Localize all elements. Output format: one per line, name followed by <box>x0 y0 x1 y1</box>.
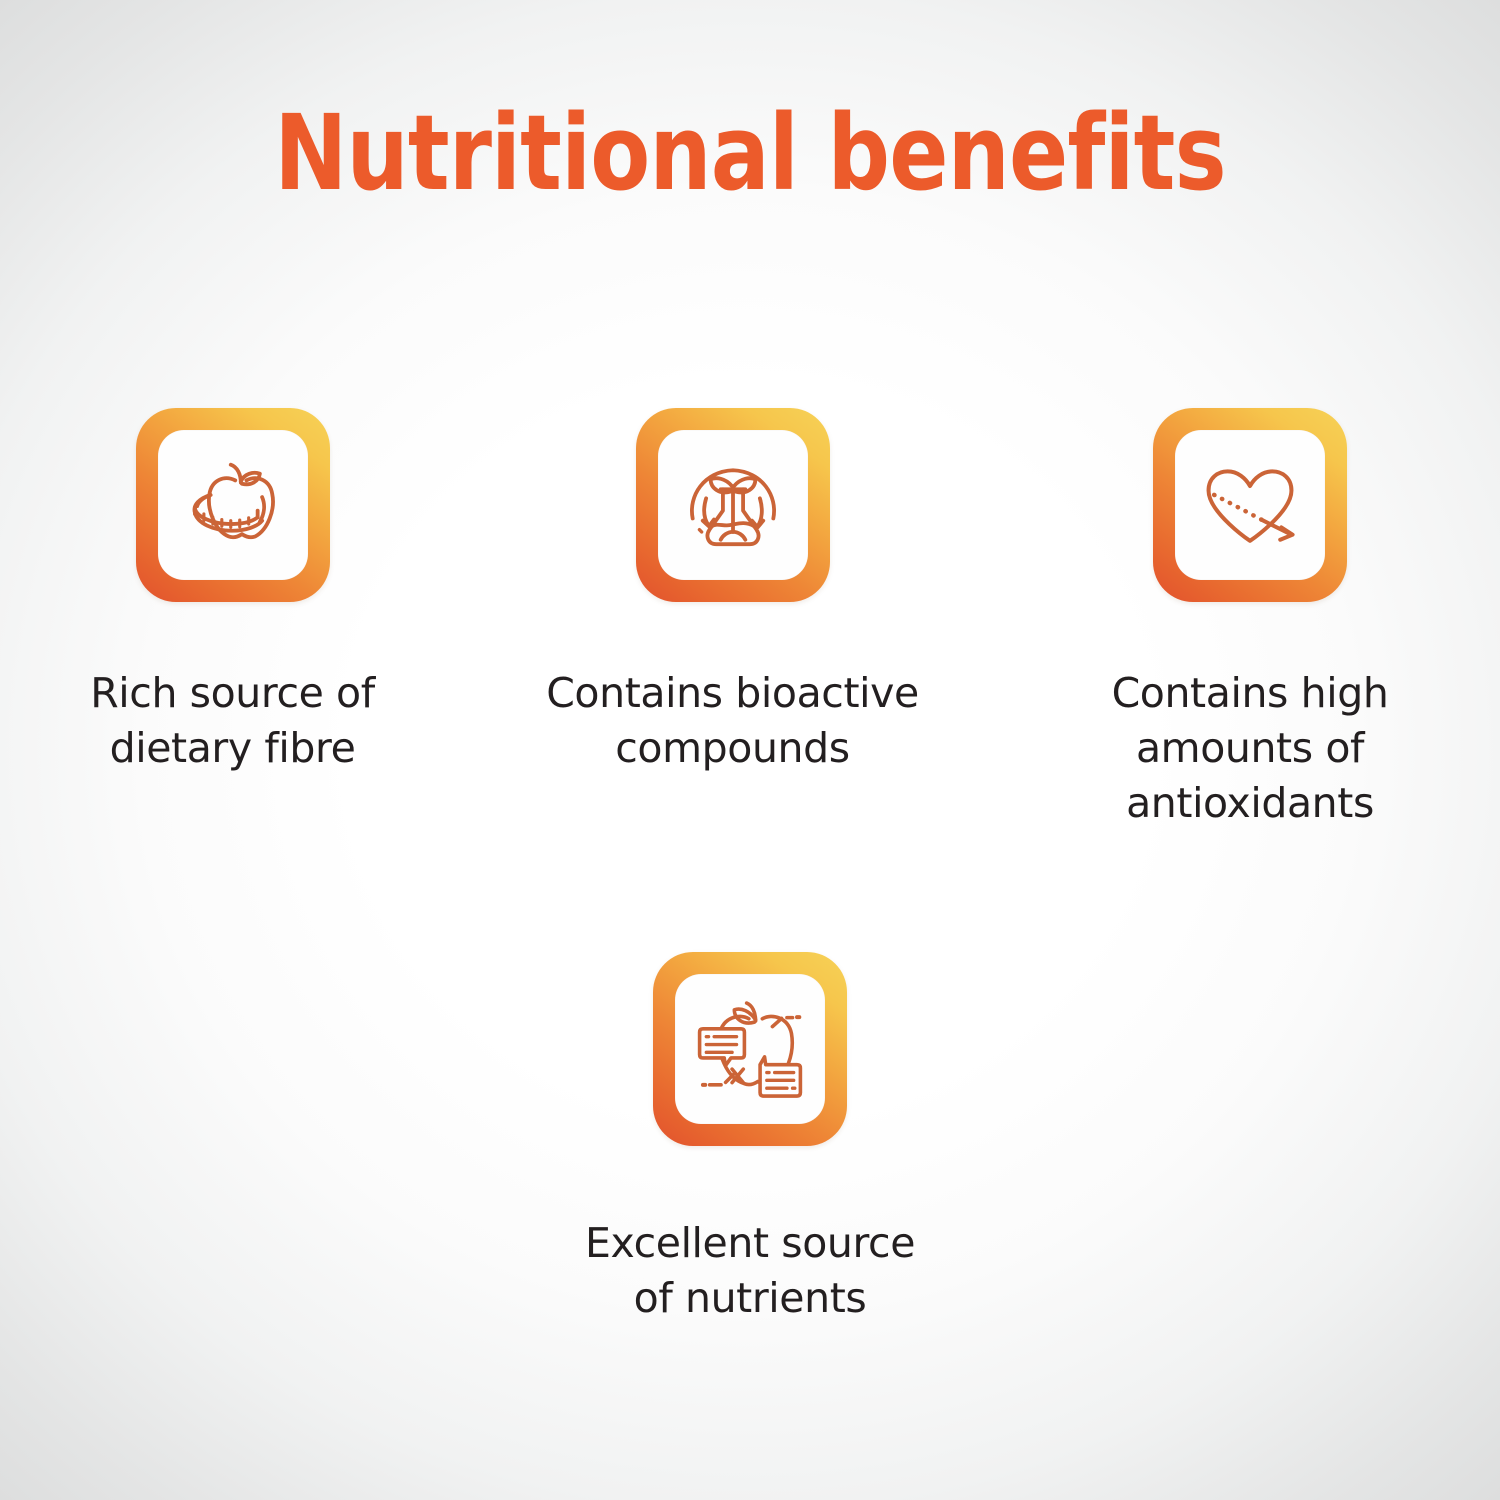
icon-frame-nutrients <box>653 952 847 1146</box>
benefit-caption-antioxidants: Contains high amounts of antioxidants <box>1112 666 1389 831</box>
icon-inner-nutrients <box>675 974 825 1124</box>
benefit-item-nutrients: Excellent source of nutrients <box>550 952 950 1326</box>
benefit-item-antioxidants: Contains high amounts of antioxidants <box>1040 408 1460 831</box>
apple-measuring-tape-icon <box>177 449 289 561</box>
icon-frame-bioactive-compounds <box>636 408 830 602</box>
icon-frame-dietary-fibre <box>136 408 330 602</box>
page-title: Nutritional benefits <box>120 96 1380 210</box>
benefit-caption-nutrients: Excellent source of nutrients <box>585 1216 915 1326</box>
benefit-caption-bioactive-compounds: Contains bioactive compounds <box>546 666 919 776</box>
apple-info-bubbles-icon <box>694 993 806 1105</box>
icon-inner-antioxidants <box>1175 430 1325 580</box>
icon-inner-dietary-fibre <box>158 430 308 580</box>
benefit-item-bioactive-compounds: Contains bioactive compounds <box>533 408 933 831</box>
nutritional-benefits-infographic: Nutritional benefits <box>0 0 1500 1500</box>
icon-inner-bioactive-compounds <box>658 430 808 580</box>
heart-arrow-icon <box>1194 449 1306 561</box>
benefits-row-bottom: Excellent source of nutrients <box>0 952 1500 1326</box>
benefit-item-dietary-fibre: Rich source of dietary fibre <box>40 408 425 831</box>
icon-frame-antioxidants <box>1153 408 1347 602</box>
benefit-caption-dietary-fibre: Rich source of dietary fibre <box>90 666 375 776</box>
flask-sprout-recycle-icon <box>677 449 789 561</box>
benefits-row-top: Rich source of dietary fibre <box>40 408 1460 831</box>
